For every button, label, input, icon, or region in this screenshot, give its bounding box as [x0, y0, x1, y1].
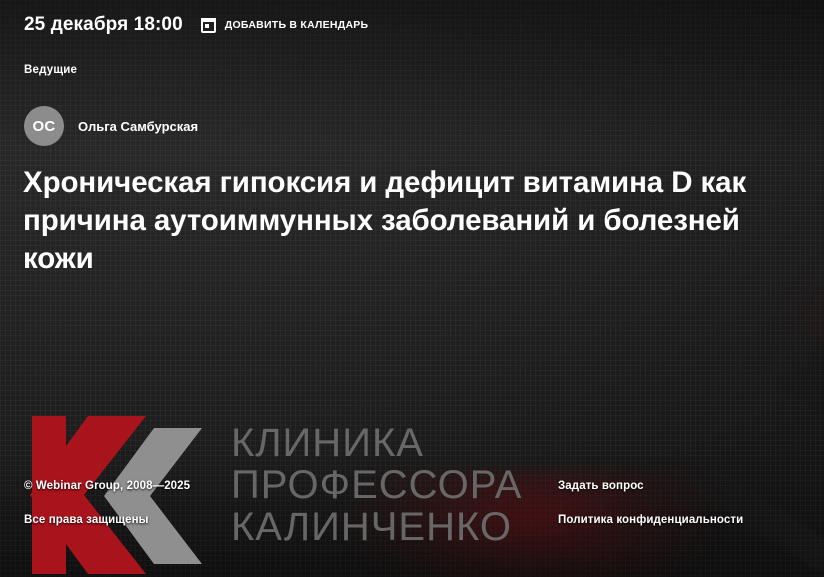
clinic-name-line-1: КЛИНИКА — [231, 422, 424, 464]
calendar-icon — [201, 18, 216, 33]
page-title: Хроническая гипоксия и дефицит витамина … — [23, 164, 783, 278]
speakers-section-label: Ведущие — [24, 64, 77, 76]
footer-right-group: Задать вопрос Политика конфиденциальност… — [558, 480, 743, 526]
webinar-landing-page: КЛИНИКА ПРОФЕССОРА КАЛИНЧЕНКО 25 декабря… — [0, 0, 824, 577]
ask-question-link[interactable]: Задать вопрос — [558, 480, 743, 492]
footer-left-group: © Webinar Group, 2008—2025 Все права защ… — [24, 480, 190, 526]
privacy-policy-link[interactable]: Политика конфиденциальности — [558, 514, 743, 526]
avatar: ОС — [24, 106, 64, 146]
add-to-calendar-label: ДОБАВИТЬ В КАЛЕНДАРЬ — [225, 19, 369, 31]
copyright-text: © Webinar Group, 2008—2025 — [24, 480, 190, 492]
clinic-name-line-3: КАЛИНЧЕНКО — [231, 506, 512, 548]
event-header: 25 декабря 18:00 ДОБАВИТЬ В КАЛЕНДАРЬ — [24, 14, 368, 36]
rights-reserved-text: Все права защищены — [24, 514, 190, 526]
speaker-item[interactable]: ОС Ольга Самбурская — [24, 106, 198, 146]
speaker-name: Ольга Самбурская — [78, 119, 198, 134]
clinic-name-line-2: ПРОФЕССОРА — [231, 464, 522, 506]
add-to-calendar-button[interactable]: ДОБАВИТЬ В КАЛЕНДАРЬ — [201, 18, 369, 33]
event-datetime: 25 декабря 18:00 — [24, 14, 183, 36]
